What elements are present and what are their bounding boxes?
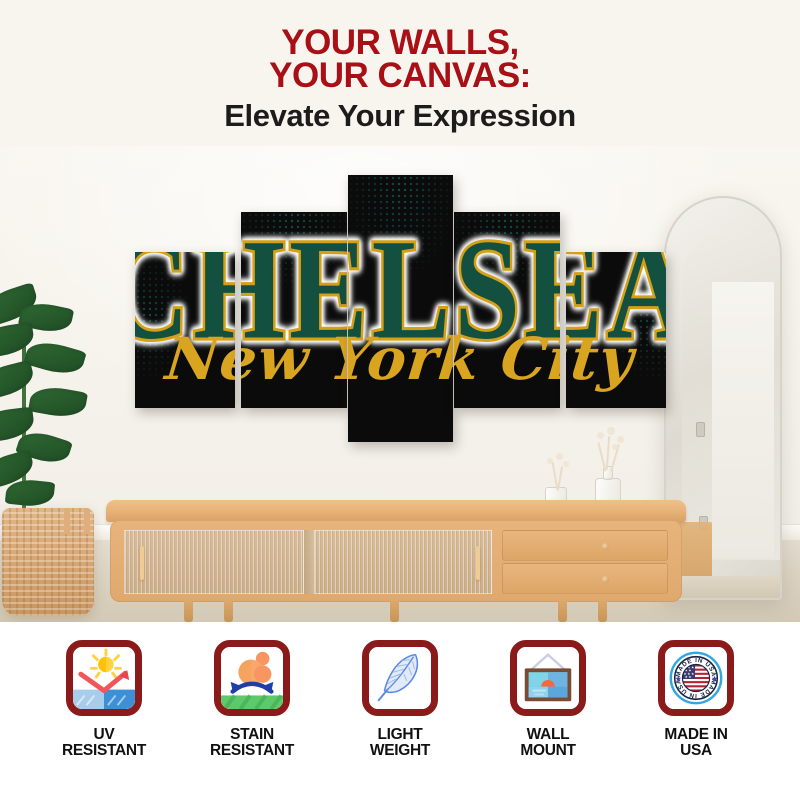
feature-badge-strip: UV RESISTANT: [0, 622, 800, 800]
feature-label: STAIN RESISTANT: [210, 727, 294, 759]
feature-wall-mount[interactable]: WALL MOUNT: [478, 640, 618, 759]
feature-made-in-usa[interactable]: MADE IN USA MADE IN USA ★ ★: [626, 640, 766, 759]
artwork-subtitle-slice: New York City: [454, 330, 560, 388]
feature-stain-resistant[interactable]: STAIN RESISTANT: [182, 640, 322, 759]
canvas-panel-4[interactable]: CHELSEA New York City: [454, 212, 560, 408]
headline-line-2: YOUR CANVAS:: [269, 59, 531, 92]
light-weight-badge: [362, 640, 438, 716]
feature-label-line2: WEIGHT: [370, 743, 430, 759]
feature-label-line1: LIGHT: [370, 727, 430, 743]
feature-label: UV RESISTANT: [62, 727, 146, 759]
uv-resistant-icon: [73, 647, 135, 709]
feature-label: LIGHT WEIGHT: [370, 727, 430, 759]
made-in-usa-badge: MADE IN USA MADE IN USA ★ ★: [658, 640, 734, 716]
artwork-subtitle-slice: New York City: [348, 330, 453, 388]
feature-label-line2: RESISTANT: [210, 743, 294, 759]
feature-uv-resistant[interactable]: UV RESISTANT: [34, 640, 174, 759]
feature-label: WALL MOUNT: [520, 727, 575, 759]
product-listing-image: CHELSEA New York City CHELSEA New York C…: [0, 0, 800, 800]
feature-label-line2: MOUNT: [520, 743, 575, 759]
canvas-panel-5[interactable]: CHELSEA New York City: [566, 252, 666, 408]
artwork-subtitle-slice: New York City: [241, 330, 347, 388]
stain-resistant-badge: [214, 640, 290, 716]
feature-label-line2: RESISTANT: [62, 743, 146, 759]
wall-mount-badge: [510, 640, 586, 716]
headline-subtitle: Elevate Your Expression: [224, 100, 575, 133]
feature-light-weight[interactable]: LIGHT WEIGHT: [330, 640, 470, 759]
artwork-subtitle-slice: New York City: [566, 330, 666, 388]
headline-banner: YOUR WALLS, YOUR CANVAS: Elevate Your Ex…: [0, 0, 800, 146]
feature-label: MADE IN USA: [664, 727, 727, 759]
svg-text:★ ★: ★ ★: [685, 675, 692, 679]
feature-label-line1: UV: [62, 727, 146, 743]
feature-label-line1: MADE IN: [664, 727, 727, 743]
svg-text:★: ★: [675, 675, 682, 683]
light-weight-feather-icon: [369, 647, 431, 709]
headline-line-1: YOUR WALLS,: [281, 26, 519, 59]
feature-label-line2: USA: [664, 743, 727, 759]
uv-resistant-badge: [66, 640, 142, 716]
canvas-panel-2[interactable]: CHELSEA New York City: [241, 212, 347, 408]
canvas-panel-1[interactable]: CHELSEA New York City: [135, 252, 235, 408]
stain-resistant-icon: [221, 647, 283, 709]
feature-label-line1: WALL: [520, 727, 575, 743]
artwork-subtitle-slice: New York City: [135, 330, 235, 388]
svg-text:★: ★: [712, 675, 719, 683]
wall-mount-frame-icon: [517, 647, 579, 709]
made-in-usa-seal-icon: MADE IN USA MADE IN USA ★ ★: [665, 647, 727, 709]
canvas-panel-3[interactable]: CHELSEA New York City: [348, 175, 453, 442]
feature-label-line1: STAIN: [210, 727, 294, 743]
